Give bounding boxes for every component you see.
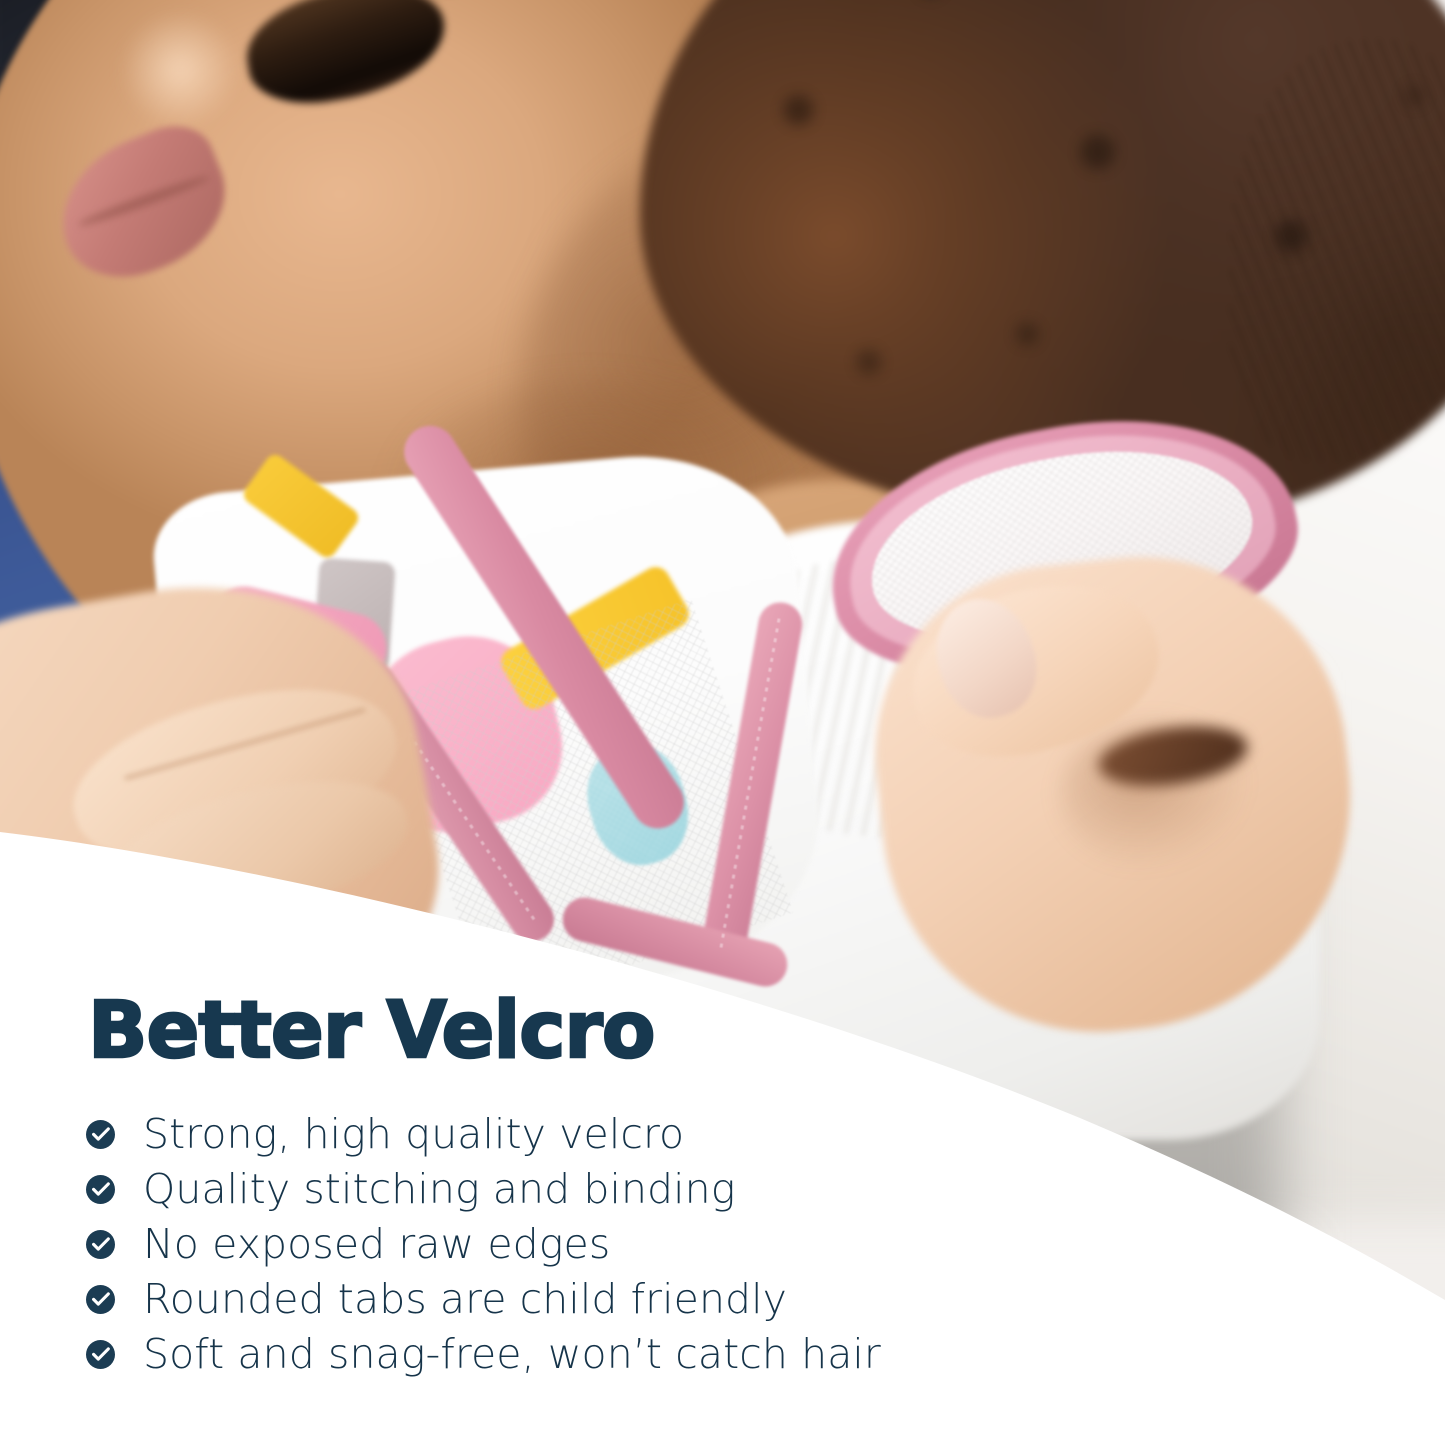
list-item-label: Quality stitching and binding — [143, 1165, 735, 1213]
check-circle-icon — [86, 1230, 115, 1259]
nose-highlight — [120, 10, 240, 130]
list-item: Soft and snag-free, won’t catch hair — [86, 1330, 881, 1378]
list-item-label: Soft and snag-free, won’t catch hair — [143, 1330, 881, 1378]
product-marketing-image: Better Velcro Strong, high quality velcr… — [0, 0, 1445, 1445]
check-circle-icon — [86, 1175, 115, 1204]
list-item-label: Strong, high quality velcro — [143, 1110, 684, 1158]
feature-list: Strong, high quality velcro Quality stit… — [86, 1110, 881, 1378]
check-circle-icon — [86, 1120, 115, 1149]
list-item: Rounded tabs are child friendly — [86, 1275, 881, 1323]
feature-text-panel: Better Velcro Strong, high quality velcr… — [0, 930, 1000, 1445]
list-item: No exposed raw edges — [86, 1220, 881, 1268]
list-item: Quality stitching and binding — [86, 1165, 881, 1213]
check-circle-icon — [86, 1340, 115, 1369]
page-title: Better Velcro — [88, 992, 654, 1070]
list-item-label: Rounded tabs are child friendly — [143, 1275, 787, 1323]
list-item: Strong, high quality velcro — [86, 1110, 881, 1158]
check-circle-icon — [86, 1285, 115, 1314]
list-item-label: No exposed raw edges — [143, 1220, 610, 1268]
